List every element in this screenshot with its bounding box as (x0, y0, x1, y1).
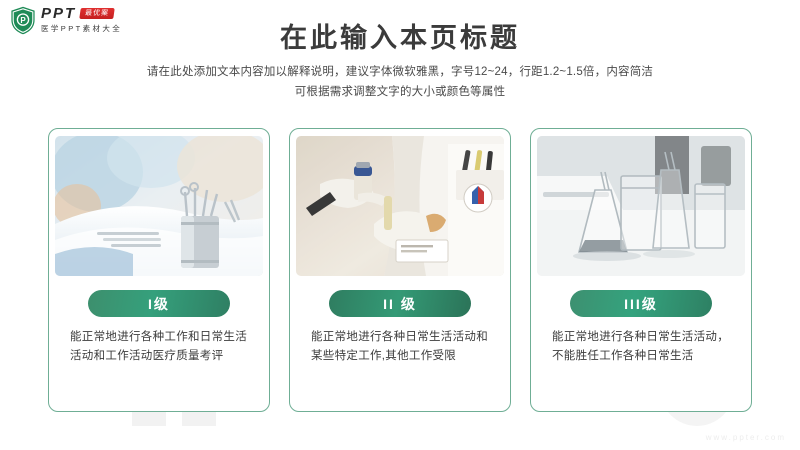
laboratory-glassware-photo (537, 136, 745, 276)
card-level-2[interactable]: II 级 能正常地进行各种日常生活活动和某些特定工作,其他工作受限 (289, 128, 511, 412)
page-description-line-2: 可根据需求调整文字的大小或颜色等属性 (0, 82, 800, 102)
shield-icon: P (10, 6, 36, 35)
site-watermark: www.ppter.com (706, 433, 786, 442)
card-list: I级 能正常地进行各种工作和日常生活活动和工作活动医疗质量考评 (48, 128, 752, 412)
card-level-3-badge: III级 (570, 290, 712, 317)
card-level-1-body: 能正常地进行各种工作和日常生活活动和工作活动医疗质量考评 (70, 328, 248, 366)
brand-logo: P PPT 最优案 医学PPT素材大全 (10, 6, 122, 35)
card-level-2-body: 能正常地进行各种日常生活活动和某些特定工作,其他工作受限 (311, 328, 489, 366)
page-description: 请在此处添加文本内容加以解释说明，建议字体微软雅黑，字号12~24，行距1.2~… (0, 62, 800, 102)
card-level-1[interactable]: I级 能正常地进行各种工作和日常生活活动和工作活动医疗质量考评 (48, 128, 270, 412)
svg-text:P: P (20, 16, 26, 25)
card-level-3-body: 能正常地进行各种日常生活活动，不能胜任工作各种日常生活 (552, 328, 730, 366)
logo-brand-text: PPT (41, 6, 76, 21)
card-level-1-badge: I级 (88, 290, 230, 317)
logo-subtitle: 医学PPT素材大全 (41, 23, 122, 34)
page-description-line-1: 请在此处添加文本内容加以解释说明，建议字体微软雅黑，字号12~24，行距1.2~… (0, 62, 800, 82)
card-level-2-badge: II 级 (329, 290, 471, 317)
surgical-instruments-photo (55, 136, 263, 276)
card-level-3[interactable]: III级 能正常地进行各种日常生活活动，不能胜任工作各种日常生活 (530, 128, 752, 412)
lab-technician-pipette-photo (296, 136, 504, 276)
logo-badge: 最优案 (79, 8, 115, 19)
